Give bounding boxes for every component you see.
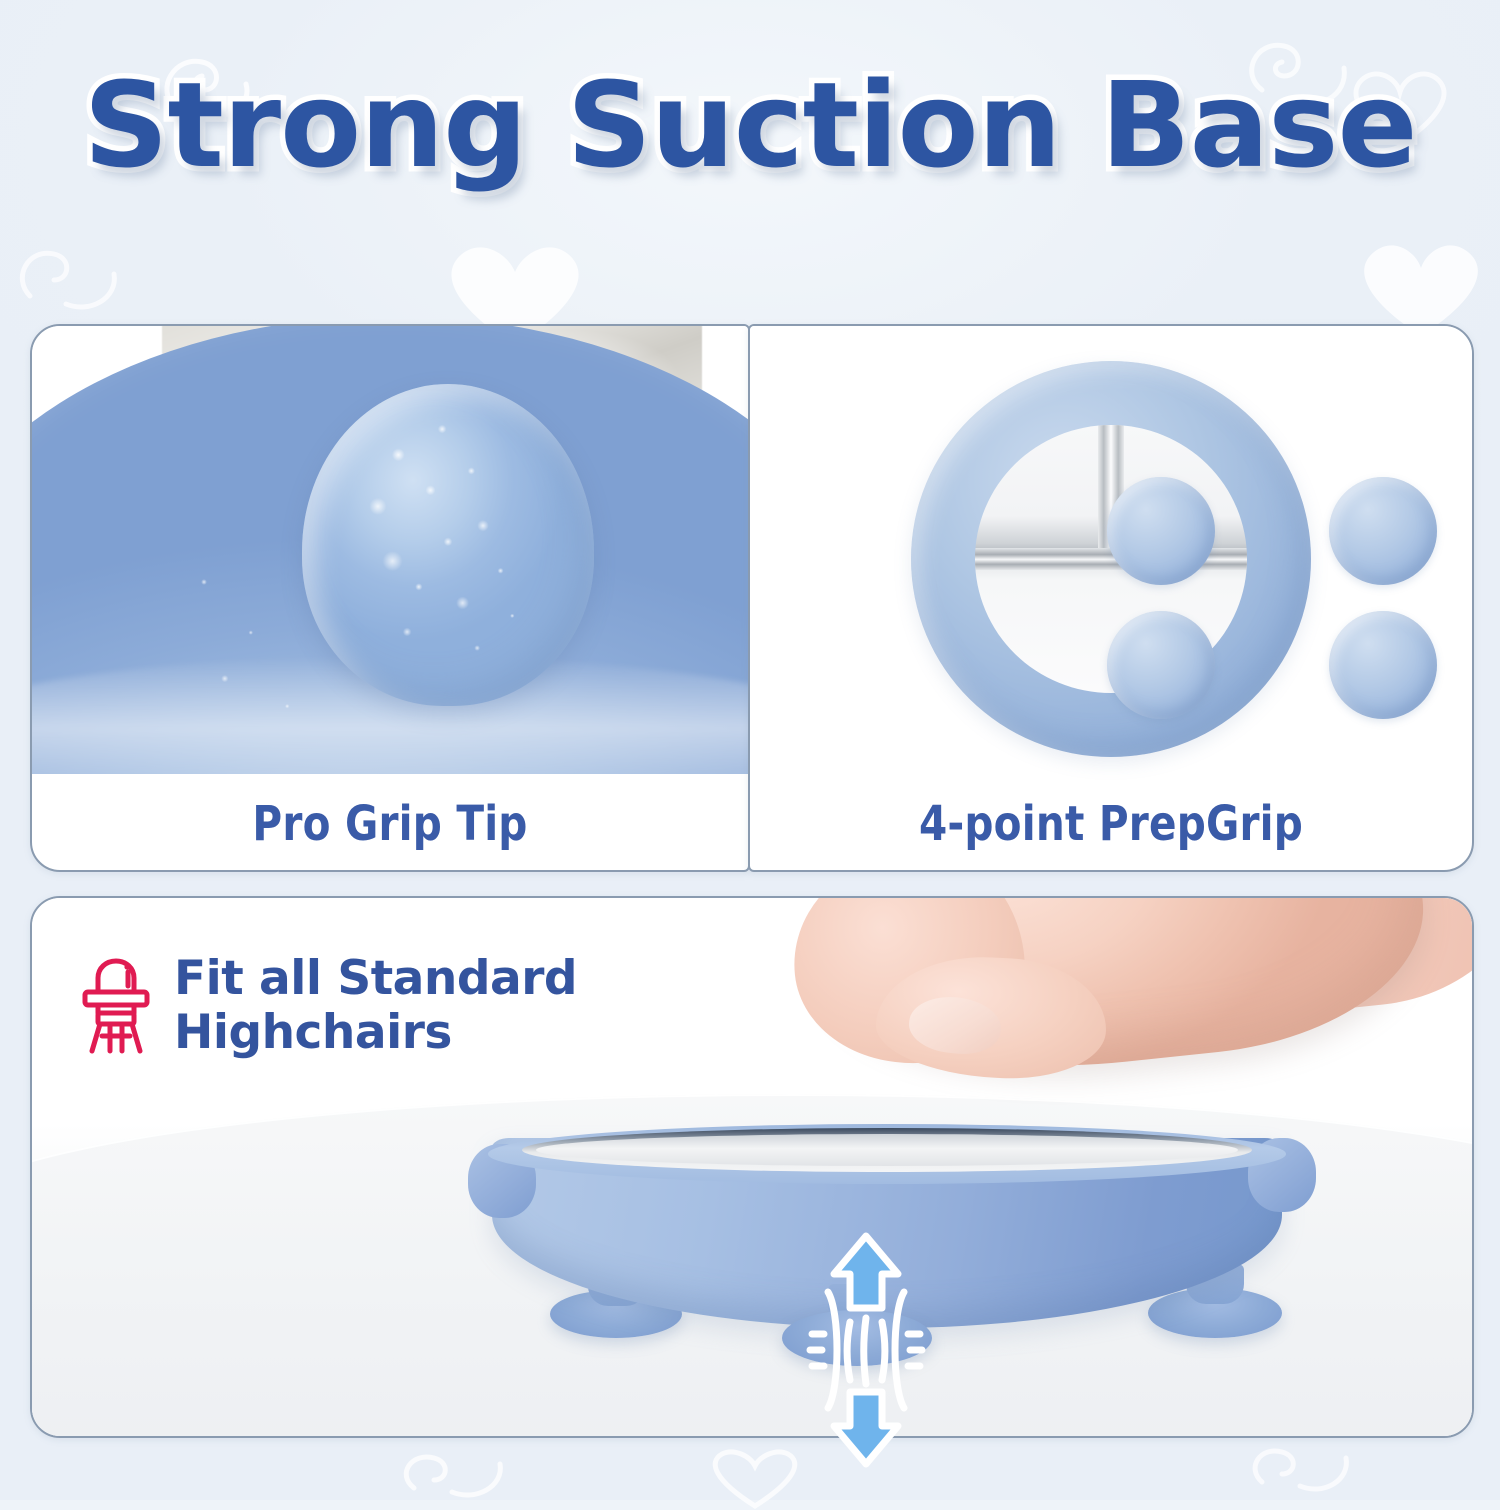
page-title: Strong Suction Base (84, 56, 1417, 194)
card-fit-all-standard-highchairs: Fit all Standard Highchairs (30, 896, 1474, 1438)
down-arrow-icon (834, 1392, 898, 1464)
suction-force-arrows-overlay (806, 1230, 926, 1470)
up-arrow-icon (834, 1236, 898, 1308)
fit-headline-line-2: Highchairs (174, 1006, 577, 1060)
pro-grip-tip-photo (32, 326, 748, 774)
card-caption-pro-grip-tip: Pro Grip Tip (53, 796, 726, 852)
page-title-container: Strong Suction Base (0, 56, 1500, 194)
fit-headline-block: Fit all Standard Highchairs (80, 952, 577, 1061)
card-caption-four-point-prepgrip: 4-point PrepGrip (772, 796, 1451, 852)
highchair-icon (80, 956, 152, 1061)
suction-pad-top-left (1107, 477, 1215, 585)
highchair-demo-photo: Fit all Standard Highchairs (32, 898, 1472, 1436)
card-four-point-prepgrip: 4-point PrepGrip (748, 324, 1474, 872)
fit-headline-line-1: Fit all Standard (174, 952, 577, 1006)
suction-tip-nub (302, 384, 594, 706)
fit-headline: Fit all Standard Highchairs (174, 952, 577, 1059)
suction-pad-top-right (1329, 477, 1437, 585)
suction-pad-bottom-right (1329, 611, 1437, 719)
stretch-left-edge (828, 1292, 837, 1408)
suction-pad-bottom-left (1107, 611, 1215, 719)
silicone-base-disc (911, 361, 1311, 757)
stretch-right-edge (895, 1292, 904, 1408)
card-pro-grip-tip: Pro Grip Tip (30, 324, 750, 872)
prepgrip-photo (750, 326, 1472, 774)
